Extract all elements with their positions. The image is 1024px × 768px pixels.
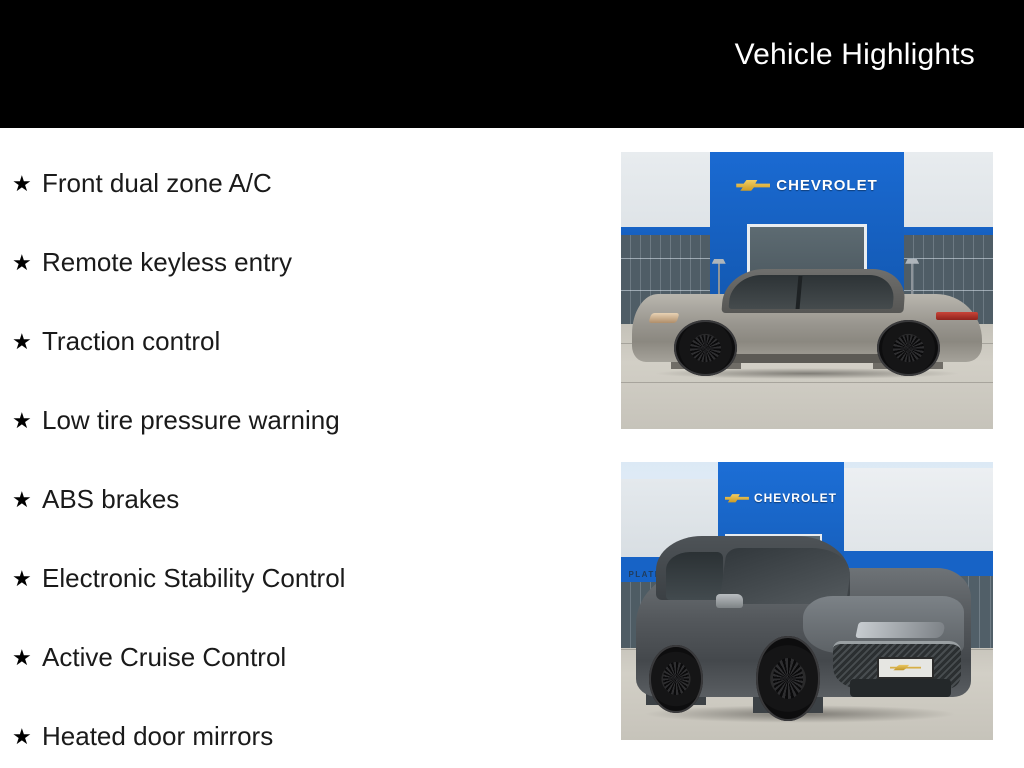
dealer-sign: CHEVROLET (714, 163, 900, 207)
star-icon: ★ (12, 173, 42, 195)
vehicle-side-glass (729, 275, 896, 309)
dealer-sign-text: CHEVROLET (776, 177, 878, 194)
list-item: ★ Heated door mirrors (0, 697, 600, 768)
vehicle-wheel (649, 645, 703, 713)
list-item: ★ Front dual zone A/C (0, 144, 600, 223)
star-icon: ★ (12, 331, 42, 353)
feature-label: Heated door mirrors (42, 722, 273, 751)
star-icon: ★ (12, 252, 42, 274)
feature-label: Electronic Stability Control (42, 564, 345, 593)
feature-label: ABS brakes (42, 485, 179, 514)
plate-bowtie-icon (890, 664, 922, 670)
license-plate (877, 657, 934, 679)
list-item: ★ Low tire pressure warning (0, 381, 600, 460)
vehicle-headlight (855, 622, 945, 638)
chevrolet-bowtie-icon (725, 493, 749, 503)
star-icon: ★ (12, 410, 42, 432)
vehicle-highlights-page: Vehicle Highlights ★ Front dual zone A/C… (0, 0, 1024, 768)
vehicle-wheel (756, 636, 820, 720)
vehicle-photo-front[interactable]: CHEVROLET PLATINUM (621, 462, 993, 740)
star-icon: ★ (12, 568, 42, 590)
dealer-sign: CHEVROLET (718, 479, 844, 518)
vehicle-lower-grille (850, 679, 950, 697)
page-header: Vehicle Highlights (0, 0, 1024, 128)
feature-label: Active Cruise Control (42, 643, 286, 672)
feature-label: Traction control (42, 327, 220, 356)
vehicle-headlight (648, 313, 679, 323)
feature-list: ★ Front dual zone A/C ★ Remote keyless e… (0, 128, 600, 768)
list-item: ★ Electronic Stability Control (0, 539, 600, 618)
vehicle-silhouette (632, 255, 982, 377)
page-title: Vehicle Highlights (735, 38, 1024, 90)
list-item: ★ Remote keyless entry (0, 223, 600, 302)
dealership-scene: CHEVROLET PLATINUM (621, 462, 993, 740)
list-item: ★ ABS brakes (0, 460, 600, 539)
feature-label: Remote keyless entry (42, 248, 292, 277)
list-item: ★ Active Cruise Control (0, 618, 600, 697)
list-item: ★ Traction control (0, 302, 600, 381)
chevrolet-bowtie-icon (736, 179, 770, 192)
vehicle-photo-side[interactable]: CHEVROLET (621, 152, 993, 429)
vehicle-side-window (666, 552, 723, 600)
star-icon: ★ (12, 726, 42, 748)
star-icon: ★ (12, 647, 42, 669)
feature-label: Front dual zone A/C (42, 169, 272, 198)
vehicle-taillight (936, 312, 978, 321)
feature-label: Low tire pressure warning (42, 406, 340, 435)
vehicle-silhouette (636, 520, 971, 720)
vehicle-wheel (674, 320, 737, 376)
vehicle-side-mirror (716, 594, 743, 608)
dealer-sign-text: CHEVROLET (754, 491, 837, 505)
dealership-scene: CHEVROLET (621, 152, 993, 429)
star-icon: ★ (12, 489, 42, 511)
vehicle-wheel (877, 320, 940, 376)
